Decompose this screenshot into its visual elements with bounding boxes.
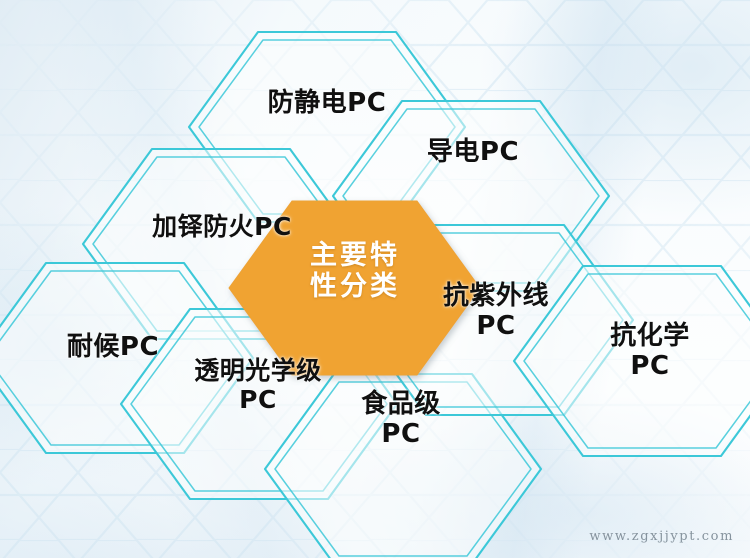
hexagon-diagram-image: 防静电PC 导电PC 加铎防火PC 耐候PC 透明光学级 PC 食品级 PC 抗…	[0, 0, 750, 558]
watermark-url: www.zgxjjypt.com	[589, 529, 734, 544]
hexagon-shapes-layer	[0, 0, 750, 558]
